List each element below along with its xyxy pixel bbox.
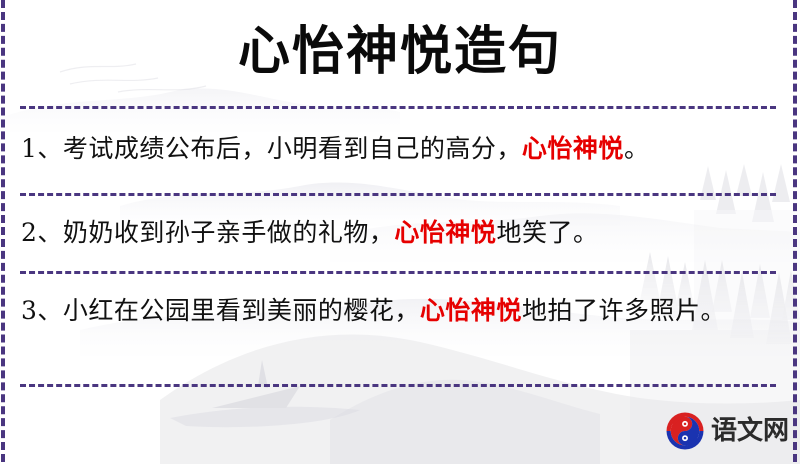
sentence-2-keyword: 心怡神悦: [394, 218, 496, 247]
sentence-3-text-after: 地拍了许多照片。: [522, 296, 726, 325]
sentence-2-index: 2、: [21, 218, 63, 247]
sentence-1-text-after: 。: [624, 134, 650, 163]
sentence-item-2: 2、奶奶收到孙子亲手做的礼物，心怡神悦地笑了。: [21, 212, 773, 254]
sentence-card-page: 心怡神悦造句 1、考试成绩公布后，小明看到自己的高分，心怡神悦。 2、奶奶收到孙…: [0, 0, 800, 464]
watermark-text: 语文网: [711, 416, 789, 446]
divider-4: [20, 384, 776, 387]
sentence-1-index: 1、: [21, 134, 63, 163]
yuwen-fish-logo-icon: [664, 410, 706, 452]
sentence-2-text-before: 奶奶收到孙子亲手做的礼物，: [63, 218, 395, 247]
page-title: 心怡神悦造句: [0, 22, 800, 82]
divider-3: [20, 271, 776, 274]
sentence-2-text-after: 地笑了。: [496, 218, 598, 247]
sentence-item-1: 1、考试成绩公布后，小明看到自己的高分，心怡神悦。: [21, 128, 773, 170]
divider-2: [20, 193, 776, 196]
sentence-3-text-before: 小红在公园里看到美丽的樱花，: [63, 296, 420, 325]
sentence-1-keyword: 心怡神悦: [522, 134, 624, 163]
sentence-3-index: 3、: [21, 296, 63, 325]
sentence-1-text-before: 考试成绩公布后，小明看到自己的高分，: [63, 134, 522, 163]
divider-1: [20, 106, 776, 109]
site-watermark: 语文网: [664, 410, 789, 452]
sentence-item-3: 3、小红在公园里看到美丽的樱花，心怡神悦地拍了许多照片。: [21, 290, 773, 332]
sentence-3-keyword: 心怡神悦: [420, 296, 522, 325]
card-content: 心怡神悦造句 1、考试成绩公布后，小明看到自己的高分，心怡神悦。 2、奶奶收到孙…: [0, 0, 800, 464]
